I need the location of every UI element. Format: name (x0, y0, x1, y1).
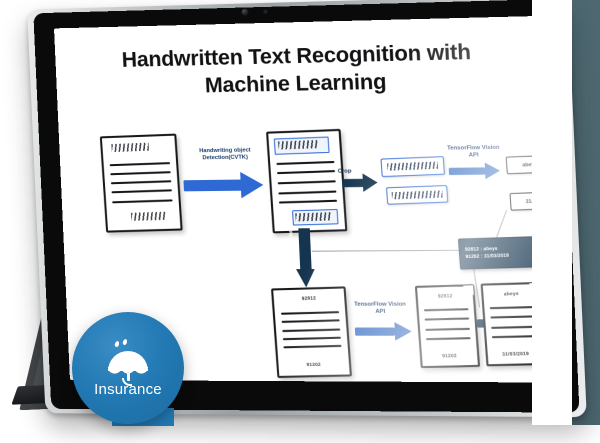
tf-vision-bottom-label-line-2: API (348, 309, 413, 316)
source-doc-signature (131, 212, 166, 221)
umbrella-icon (105, 339, 151, 379)
tf-vision-bottom-label-line-1: TensorFlow Vision (347, 302, 412, 309)
source-doc-line (113, 199, 173, 203)
crop-arrow-shaft (342, 179, 365, 187)
extracted-doc-line (424, 318, 469, 321)
detected-doc-line (276, 161, 334, 165)
final-doc-line (490, 316, 536, 319)
tf-vision-arrow-top-label: TensorFlow Vision API (443, 145, 503, 160)
final-doc-line (489, 306, 535, 309)
crop-down-arrow-label: Handwriting (287, 209, 295, 238)
crop-date-chip (386, 185, 448, 205)
detection-arrow-head (240, 172, 264, 199)
detection-arrow-shaft (183, 180, 243, 192)
tf-vision-arrow-bottom-label: TensorFlow Vision API (347, 302, 413, 316)
ambient-light-sensor-icon (263, 10, 267, 14)
crop-signature-chip (380, 156, 445, 177)
detected-doc-handwriting (278, 140, 319, 150)
field-id-doc-top-text: 92812 (274, 294, 345, 301)
source-doc-line (112, 190, 172, 194)
detection-arrow (183, 172, 264, 199)
source-document (100, 134, 183, 233)
crop-arrow-label: Crop (331, 168, 358, 175)
crop-date-handwriting (392, 191, 442, 200)
extracted-doc-line (424, 308, 469, 311)
crop-down-arrow-shaft (298, 228, 311, 269)
camera-icon (241, 9, 248, 16)
tf-vision-arrow-bottom-shaft (355, 327, 395, 335)
field-id-doc-bottom-text: 91202 (278, 361, 349, 368)
extracted-doc-line (425, 327, 470, 330)
insurance-badge[interactable]: Insurance (72, 312, 184, 424)
field-id-doc-line (283, 337, 341, 340)
tf-vision-top-label-line-2: API (444, 152, 504, 160)
field-id-doc-line (282, 320, 340, 324)
extracted-doc-bottom-text: 91202 (422, 352, 477, 358)
detected-doc-signature (295, 212, 331, 221)
tf-vision-arrow-top-head (485, 162, 501, 179)
tf-vision-arrow-bottom (355, 322, 413, 341)
crop-arrow-label-line-1: Crop (331, 168, 358, 175)
umbrella-canopy (108, 351, 148, 371)
field-id-doc-line (284, 345, 342, 348)
crop-down-arrow: Handwriting (294, 228, 315, 287)
source-doc-line (111, 171, 171, 175)
field-id-document: 92812 91202 (271, 286, 352, 378)
raindrop-icon (114, 340, 120, 347)
tf-vision-arrow-bottom-head (394, 322, 412, 341)
extracted-doc-line (426, 337, 471, 340)
detected-doc-line (279, 200, 337, 204)
screenshot-stage: b Handwritten Text Recognition with Mach… (0, 0, 600, 425)
detected-doc-line (277, 171, 335, 175)
source-doc-line (111, 180, 171, 184)
extracted-id-document: 92812 91202 (415, 284, 480, 368)
detection-arrow-label: Handwriting object Detection(CVTK) (178, 147, 273, 163)
crop-signature-handwriting (387, 162, 439, 171)
detection-arrow-label-line-2: Detection(CVTK) (178, 154, 272, 162)
detected-document (266, 129, 347, 233)
edge-band-mask (532, 0, 572, 425)
crop-arrow-head (362, 173, 378, 192)
extracted-doc-top-text: 92812 (418, 293, 473, 300)
source-doc-line (110, 162, 170, 166)
tf-vision-arrow-top-shaft (449, 167, 486, 174)
detected-doc-line (278, 190, 336, 194)
field-id-doc-line (281, 311, 339, 315)
final-doc-top-text: abeys (483, 290, 539, 297)
page-title: Handwritten Text Recognition with Machin… (55, 37, 544, 103)
source-doc-handwriting (111, 143, 149, 152)
detected-doc-line (278, 180, 336, 184)
final-doc-line (491, 335, 537, 338)
raindrop-icon (122, 338, 128, 345)
crop-down-arrow-head (296, 269, 315, 287)
final-doc-line (491, 325, 537, 328)
field-id-doc-line (282, 328, 340, 331)
crop-arrow (342, 173, 378, 192)
tf-vision-arrow-top (448, 162, 500, 179)
connector-crop-to-mapping (312, 250, 459, 252)
